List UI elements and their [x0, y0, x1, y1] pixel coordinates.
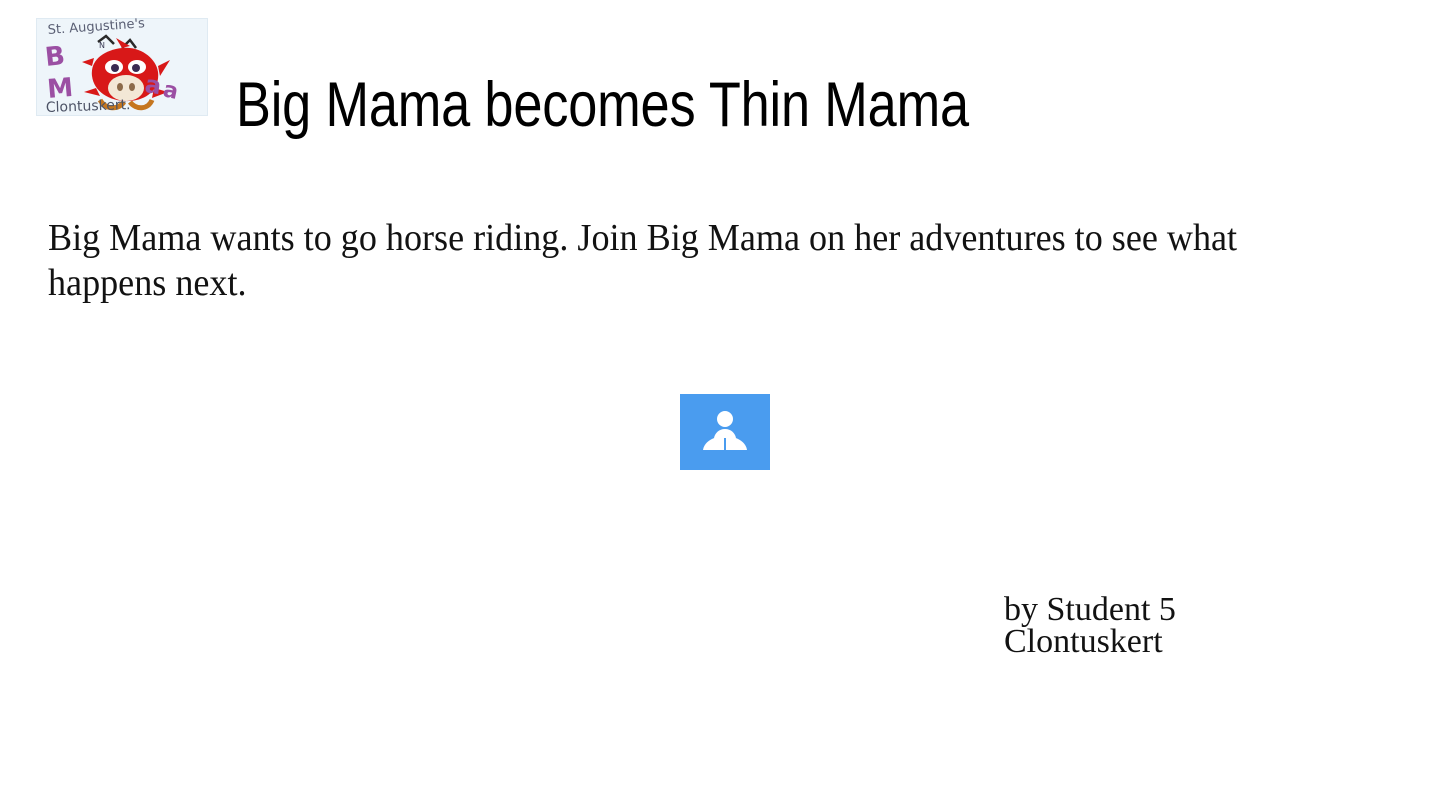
author-line-1: by Student 5 — [1004, 594, 1176, 626]
author-line-2: Clontuskert — [1004, 626, 1176, 658]
logo-big-text: B — [44, 41, 67, 73]
body-paragraph: Big Mama wants to go horse riding. Join … — [48, 216, 1274, 306]
school-logo-artwork: St. Augustine's N — [36, 18, 208, 116]
school-logo: St. Augustine's N — [36, 18, 208, 116]
author-credit: by Student 5 Clontuskert — [1004, 594, 1176, 659]
slide-canvas: St. Augustine's N — [0, 0, 1440, 797]
person-reading-book-icon[interactable] — [680, 394, 770, 470]
logo-bottom-text: Clontuskert. — [46, 97, 131, 116]
svg-text:N: N — [99, 41, 105, 50]
person-reading-book-glyph — [699, 410, 751, 454]
page-title: Big Mama becomes Thin Mama — [236, 70, 1166, 141]
